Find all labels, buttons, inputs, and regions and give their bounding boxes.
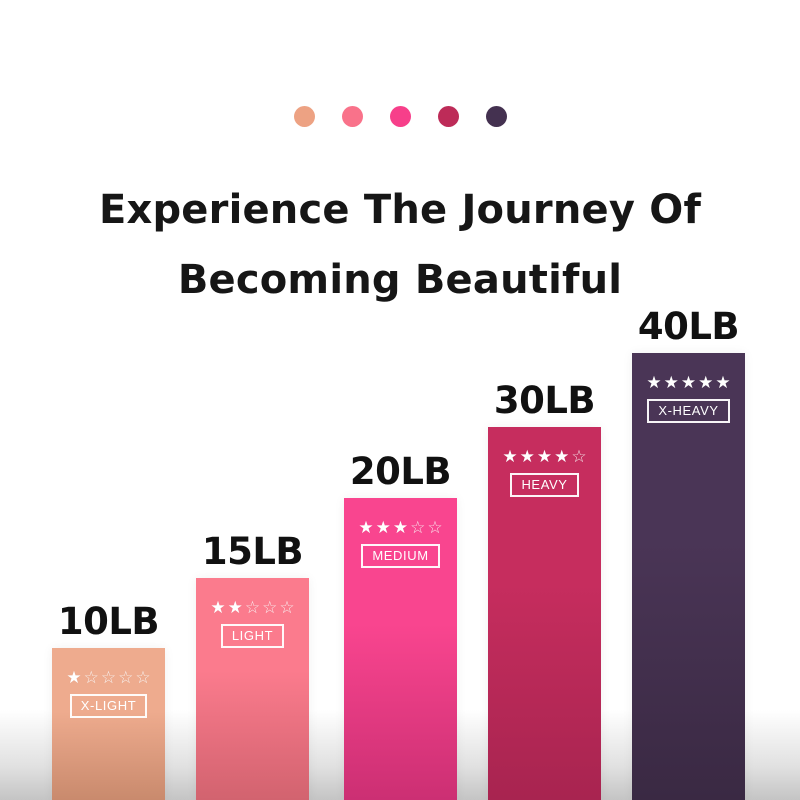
status-badge-40lb: X-HEAVY (647, 399, 729, 423)
star-filled-icon: ★ (228, 600, 243, 617)
bar-value-label-15lb: 15LB (202, 532, 303, 572)
bar-value-label-30lb: 30LB (494, 381, 595, 421)
star-empty-icon: ☆ (84, 670, 99, 687)
bar-value-label-20lb: 20LB (350, 452, 451, 492)
dot-heavy-icon (438, 106, 459, 127)
page-title-line-1: Experience The Journey Of (0, 175, 800, 245)
bar-group-10lb[interactable]: ★☆☆☆☆X-LIGHT10LB (52, 648, 165, 800)
star-rating-10lb: ★☆☆☆☆ (66, 670, 150, 687)
star-empty-icon: ☆ (279, 600, 294, 617)
bar-group-15lb[interactable]: ★★☆☆☆LIGHT15LB (196, 578, 309, 800)
dot-medium-icon (390, 106, 411, 127)
bar-badge-block-30lb: ★★★★☆HEAVY (488, 449, 601, 497)
star-empty-icon: ☆ (101, 670, 116, 687)
page-title-line-2: Becoming Beautiful (0, 245, 800, 315)
star-filled-icon: ★ (664, 375, 679, 392)
star-filled-icon: ★ (698, 375, 713, 392)
status-badge-15lb: LIGHT (221, 624, 284, 648)
status-badge-20lb: MEDIUM (361, 544, 439, 568)
star-empty-icon: ☆ (135, 670, 150, 687)
star-filled-icon: ★ (210, 600, 225, 617)
star-rating-30lb: ★★★★☆ (502, 449, 586, 466)
star-empty-icon: ☆ (410, 520, 425, 537)
star-empty-icon: ☆ (245, 600, 260, 617)
bar-group-30lb[interactable]: ★★★★☆HEAVY30LB (488, 427, 601, 800)
status-badge-30lb: HEAVY (510, 473, 578, 497)
color-swatch-dots (0, 106, 800, 127)
star-rating-40lb: ★★★★★ (646, 375, 730, 392)
star-rating-15lb: ★★☆☆☆ (210, 600, 294, 617)
page-title: Experience The Journey Of Becoming Beaut… (0, 175, 800, 315)
star-empty-icon: ☆ (571, 449, 586, 466)
star-filled-icon: ★ (537, 449, 552, 466)
star-filled-icon: ★ (646, 375, 661, 392)
star-filled-icon: ★ (376, 520, 391, 537)
star-filled-icon: ★ (520, 449, 535, 466)
bar-badge-block-15lb: ★★☆☆☆LIGHT (196, 600, 309, 648)
dot-x-light-icon (294, 106, 315, 127)
dot-x-heavy-icon (486, 106, 507, 127)
star-filled-icon: ★ (393, 520, 408, 537)
resistance-band-infographic: Experience The Journey Of Becoming Beaut… (0, 0, 800, 800)
bar-badge-block-40lb: ★★★★★X-HEAVY (632, 375, 745, 423)
star-rating-20lb: ★★★☆☆ (358, 520, 442, 537)
star-filled-icon: ★ (681, 375, 696, 392)
bar-group-40lb[interactable]: ★★★★★X-HEAVY40LB (632, 353, 745, 800)
star-empty-icon: ☆ (427, 520, 442, 537)
star-filled-icon: ★ (554, 449, 569, 466)
bar-badge-block-20lb: ★★★☆☆MEDIUM (344, 520, 457, 568)
dot-light-icon (342, 106, 363, 127)
bar-value-label-10lb: 10LB (58, 602, 159, 642)
star-empty-icon: ☆ (118, 670, 133, 687)
bar-group-20lb[interactable]: ★★★☆☆MEDIUM20LB (344, 498, 457, 800)
star-filled-icon: ★ (66, 670, 81, 687)
star-filled-icon: ★ (358, 520, 373, 537)
star-empty-icon: ☆ (262, 600, 277, 617)
star-filled-icon: ★ (715, 375, 730, 392)
star-filled-icon: ★ (502, 449, 517, 466)
bar-badge-block-10lb: ★☆☆☆☆X-LIGHT (52, 670, 165, 718)
status-badge-10lb: X-LIGHT (70, 694, 147, 718)
